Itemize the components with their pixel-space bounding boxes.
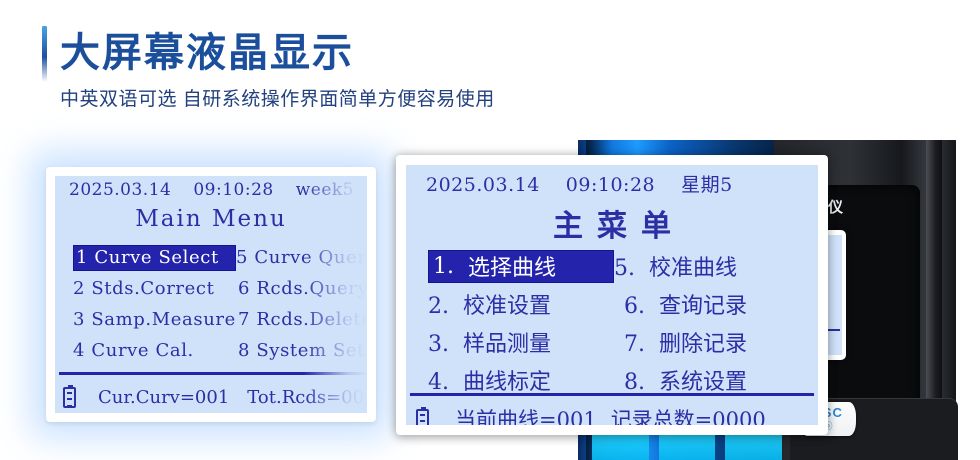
menu-item-label: 删除记录	[659, 332, 747, 357]
menu-item-calibrate-curve[interactable]: 5.校准曲线	[614, 250, 810, 282]
menu-item-number: 4.	[428, 370, 449, 395]
lcd-english-menu-row: 2 Stds.Correct 6 Rcds.Query	[73, 273, 367, 304]
lcd-english-title: Main Menu	[55, 206, 367, 232]
battery-icon	[416, 409, 429, 426]
lcd-chinese-footer-text: 当前曲线=001记录总数=0000	[455, 404, 780, 425]
menu-item-number: 5.	[614, 256, 635, 281]
page-subtitle: 中英双语可选 自研系统操作界面简单方便容易使用	[60, 86, 495, 114]
menu-item-stds-correct[interactable]: 2 Stds.Correct	[73, 278, 238, 299]
menu-item-curve-select[interactable]: 1 Curve Select	[73, 245, 236, 271]
lcd-english-menu-row: 1 Curve Select 5 Curve Query	[73, 242, 367, 273]
lcd-english-footer-text: Cur.Curv=001Tot.Rcds=0000	[98, 387, 367, 408]
menu-item-samp-measure[interactable]: 3 Samp.Measure	[73, 309, 238, 330]
lcd-chinese-menu-row: 2.校准设置 6.查询记录	[428, 285, 818, 323]
menu-item-query-records[interactable]: 6.查询记录	[624, 288, 818, 320]
lcd-chinese-menu-row: 3.样品测量 7.删除记录	[428, 323, 818, 361]
menu-item-number: 6.	[624, 294, 645, 319]
menu-item-label: 曲线标定	[463, 370, 551, 395]
menu-item-select-curve[interactable]: 1.选择曲线	[428, 250, 614, 283]
lcd-chinese-menu-row: 1.选择曲线 5.校准曲线	[428, 247, 818, 285]
lcd-chinese-divider	[410, 393, 814, 396]
menu-item-delete-records[interactable]: 7.删除记录	[624, 326, 818, 358]
menu-item-label: 校准设置	[463, 294, 551, 319]
lcd-screen-chinese: 2025.03.1409:10:28星期5 主菜单 1.选择曲线 5.校准曲线 …	[396, 155, 828, 435]
menu-item-label: 查询记录	[659, 294, 747, 319]
menu-item-curve-cal[interactable]: 4 Curve Cal.	[73, 340, 238, 361]
menu-item-rcds-query[interactable]: 6 Rcds.Query	[238, 278, 367, 299]
lcd-english-menu-row: 3 Samp.Measure 7 Rcds.Delete	[73, 304, 367, 335]
menu-item-number: 2.	[428, 294, 449, 319]
lcd-chinese-footer: 当前曲线=001记录总数=0000	[416, 401, 818, 425]
menu-item-curve-calibration[interactable]: 4.曲线标定	[428, 364, 624, 396]
total-records-value: 记录总数=0000	[611, 408, 766, 425]
current-curve-value: Cur.Curv=001	[98, 387, 229, 408]
lcd-english-divider	[59, 372, 367, 375]
promo-banner: 大屏幕液晶显示 中英双语可选 自研系统操作界面简单方便容易使用 测定仪 线录录置…	[0, 0, 980, 460]
menu-item-label: 校准曲线	[649, 256, 737, 281]
menu-item-label: 选择曲线	[468, 250, 556, 282]
menu-item-number: 8.	[624, 370, 645, 395]
menu-item-system-settings[interactable]: 8.系统设置	[624, 364, 818, 396]
total-records-value: Tot.Rcds=0000	[247, 387, 367, 408]
menu-item-number: 3.	[428, 332, 449, 357]
lcd-chinese-statusbar: 2025.03.1409:10:28星期5	[426, 170, 759, 197]
lcd-english-statusbar: 2025.03.1409:10:28week5	[69, 180, 367, 200]
menu-item-curve-query[interactable]: 5 Curve Query	[236, 247, 367, 268]
lcd-chinese-inner: 2025.03.1409:10:28星期5 主菜单 1.选择曲线 5.校准曲线 …	[406, 165, 818, 425]
lcd-english-inner: 2025.03.1409:10:28week5 Main Menu 1 Curv…	[55, 176, 367, 413]
lcd-english-date: 2025.03.14	[69, 180, 171, 200]
lcd-english-menu-row: 4 Curve Cal. 8 System Set	[73, 335, 367, 366]
lcd-english-menu: 1 Curve Select 5 Curve Query 2 Stds.Corr…	[73, 242, 367, 366]
menu-item-calibration-settings[interactable]: 2.校准设置	[428, 288, 624, 320]
battery-icon	[63, 387, 76, 408]
lcd-english-weekday: week5	[296, 180, 354, 200]
lcd-screen-english: 2025.03.1409:10:28week5 Main Menu 1 Curv…	[46, 167, 376, 422]
title-accent-bar	[42, 26, 47, 82]
current-curve-value: 当前曲线=001	[455, 408, 597, 425]
menu-item-system-set[interactable]: 8 System Set	[238, 340, 367, 361]
menu-item-sample-measure[interactable]: 3.样品测量	[428, 326, 624, 358]
menu-item-label: 样品测量	[463, 332, 551, 357]
lcd-chinese-menu: 1.选择曲线 5.校准曲线 2.校准设置 6.查询记录	[428, 247, 818, 399]
lcd-chinese-weekday: 星期5	[681, 174, 733, 196]
lcd-english-time: 09:10:28	[193, 180, 273, 200]
lcd-english-footer: Cur.Curv=001Tot.Rcds=0000	[63, 380, 367, 413]
menu-item-rcds-delete[interactable]: 7 Rcds.Delete	[238, 309, 367, 330]
menu-item-number: 7.	[624, 332, 645, 357]
lcd-chinese-time: 09:10:28	[566, 174, 655, 196]
menu-item-number: 1.	[433, 254, 454, 279]
page-title: 大屏幕液晶显示	[60, 24, 354, 82]
menu-item-label: 系统设置	[659, 370, 747, 395]
lcd-chinese-title: 主菜单	[406, 201, 818, 245]
lcd-chinese-date: 2025.03.14	[426, 174, 540, 196]
